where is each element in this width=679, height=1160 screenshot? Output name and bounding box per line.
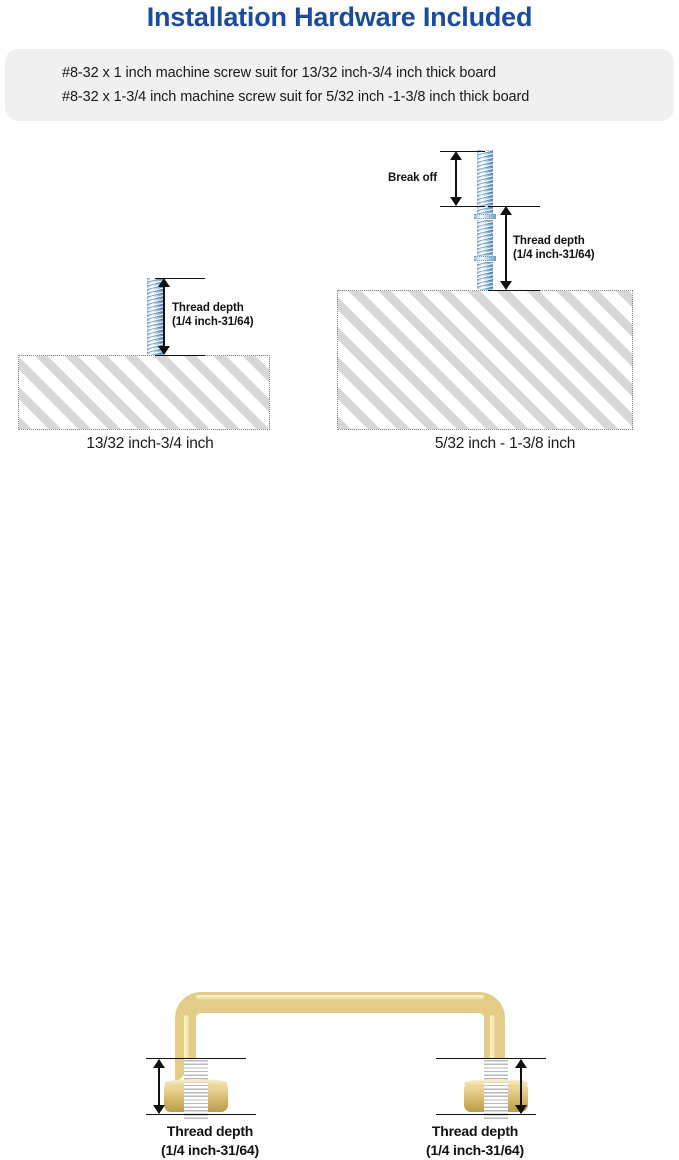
dim-arrow-up-left [158, 278, 170, 287]
caption-left: 13/32 inch-3/4 inch [0, 435, 300, 453]
thread-depth-label-left: Thread depth (1/4 inch-31/64) [172, 301, 254, 329]
dim-arrow-down-breakoff [450, 197, 462, 206]
handle-right-thread-front [484, 1082, 508, 1115]
dim-tick-bottom-right [488, 290, 540, 291]
handle-dim-arrow-down-right [515, 1105, 527, 1114]
break-off-label: Break off [388, 171, 437, 185]
dim-line-right [505, 208, 507, 288]
dim-arrow-down-right [500, 281, 512, 290]
thread-depth-label-right-line1: Thread depth [513, 234, 595, 248]
handle-caption-right-line1: Thread depth [385, 1122, 565, 1141]
handle-dim-tick-bottom-left [146, 1114, 256, 1115]
handle-stage: Thread depth (1/4 inch-31/64) Thread dep… [0, 470, 679, 690]
handle-bar [175, 992, 505, 1084]
handle-caption-right: Thread depth (1/4 inch-31/64) [385, 1122, 565, 1160]
handle-caption-left-line1: Thread depth [120, 1122, 300, 1141]
dim-arrow-down-left [158, 346, 170, 355]
dim-tick-top-right [488, 206, 540, 207]
thread-depth-label-left-line2: (1/4 inch-31/64) [172, 315, 254, 329]
board-cross-section-right [337, 290, 633, 430]
breakoff-notch-2 [474, 256, 496, 261]
dim-tick-bottom-left [155, 355, 205, 356]
handle-caption-right-line2: (1/4 inch-31/64) [385, 1141, 565, 1160]
page-title: Installation Hardware Included [0, 2, 679, 33]
spec-panel: #8-32 x 1 inch machine screw suit for 13… [5, 49, 674, 121]
handle-caption-left-line2: (1/4 inch-31/64) [120, 1141, 300, 1160]
dim-line-left [163, 280, 165, 354]
spec-line-1: #8-32 x 1 inch machine screw suit for 13… [62, 65, 496, 81]
handle-dim-arrow-down-left [153, 1105, 165, 1114]
handle-dim-arrow-up-left [153, 1059, 165, 1068]
handle-dim-tick-top-right [436, 1058, 546, 1059]
thread-depth-label-left-line1: Thread depth [172, 301, 254, 315]
handle-left-thread-front [184, 1082, 208, 1115]
caption-right: 5/32 inch - 1-3/8 inch [355, 435, 655, 453]
screw-diagram-stage: Thread depth (1/4 inch-31/64) 13/32 inch… [0, 130, 679, 470]
handle-dim-tick-bottom-right [436, 1114, 536, 1115]
dim-arrow-up-breakoff [450, 151, 462, 160]
board-cross-section-left [18, 355, 270, 430]
thread-depth-label-right-line2: (1/4 inch-31/64) [513, 248, 595, 262]
dim-arrow-up-right [500, 206, 512, 215]
spec-line-2: #8-32 x 1-3/4 inch machine screw suit fo… [62, 89, 529, 105]
handle-dim-arrow-up-right [515, 1059, 527, 1068]
thread-depth-label-right: Thread depth (1/4 inch-31/64) [513, 234, 595, 262]
handle-bar-highlight [196, 995, 484, 1000]
dim-tick-top-breakoff [440, 151, 485, 152]
dim-tick-bottom-breakoff [440, 206, 485, 207]
handle-caption-left: Thread depth (1/4 inch-31/64) [120, 1122, 300, 1160]
breakoff-notch-1 [474, 214, 496, 219]
screw-breakoff-segment-2 [477, 220, 493, 258]
